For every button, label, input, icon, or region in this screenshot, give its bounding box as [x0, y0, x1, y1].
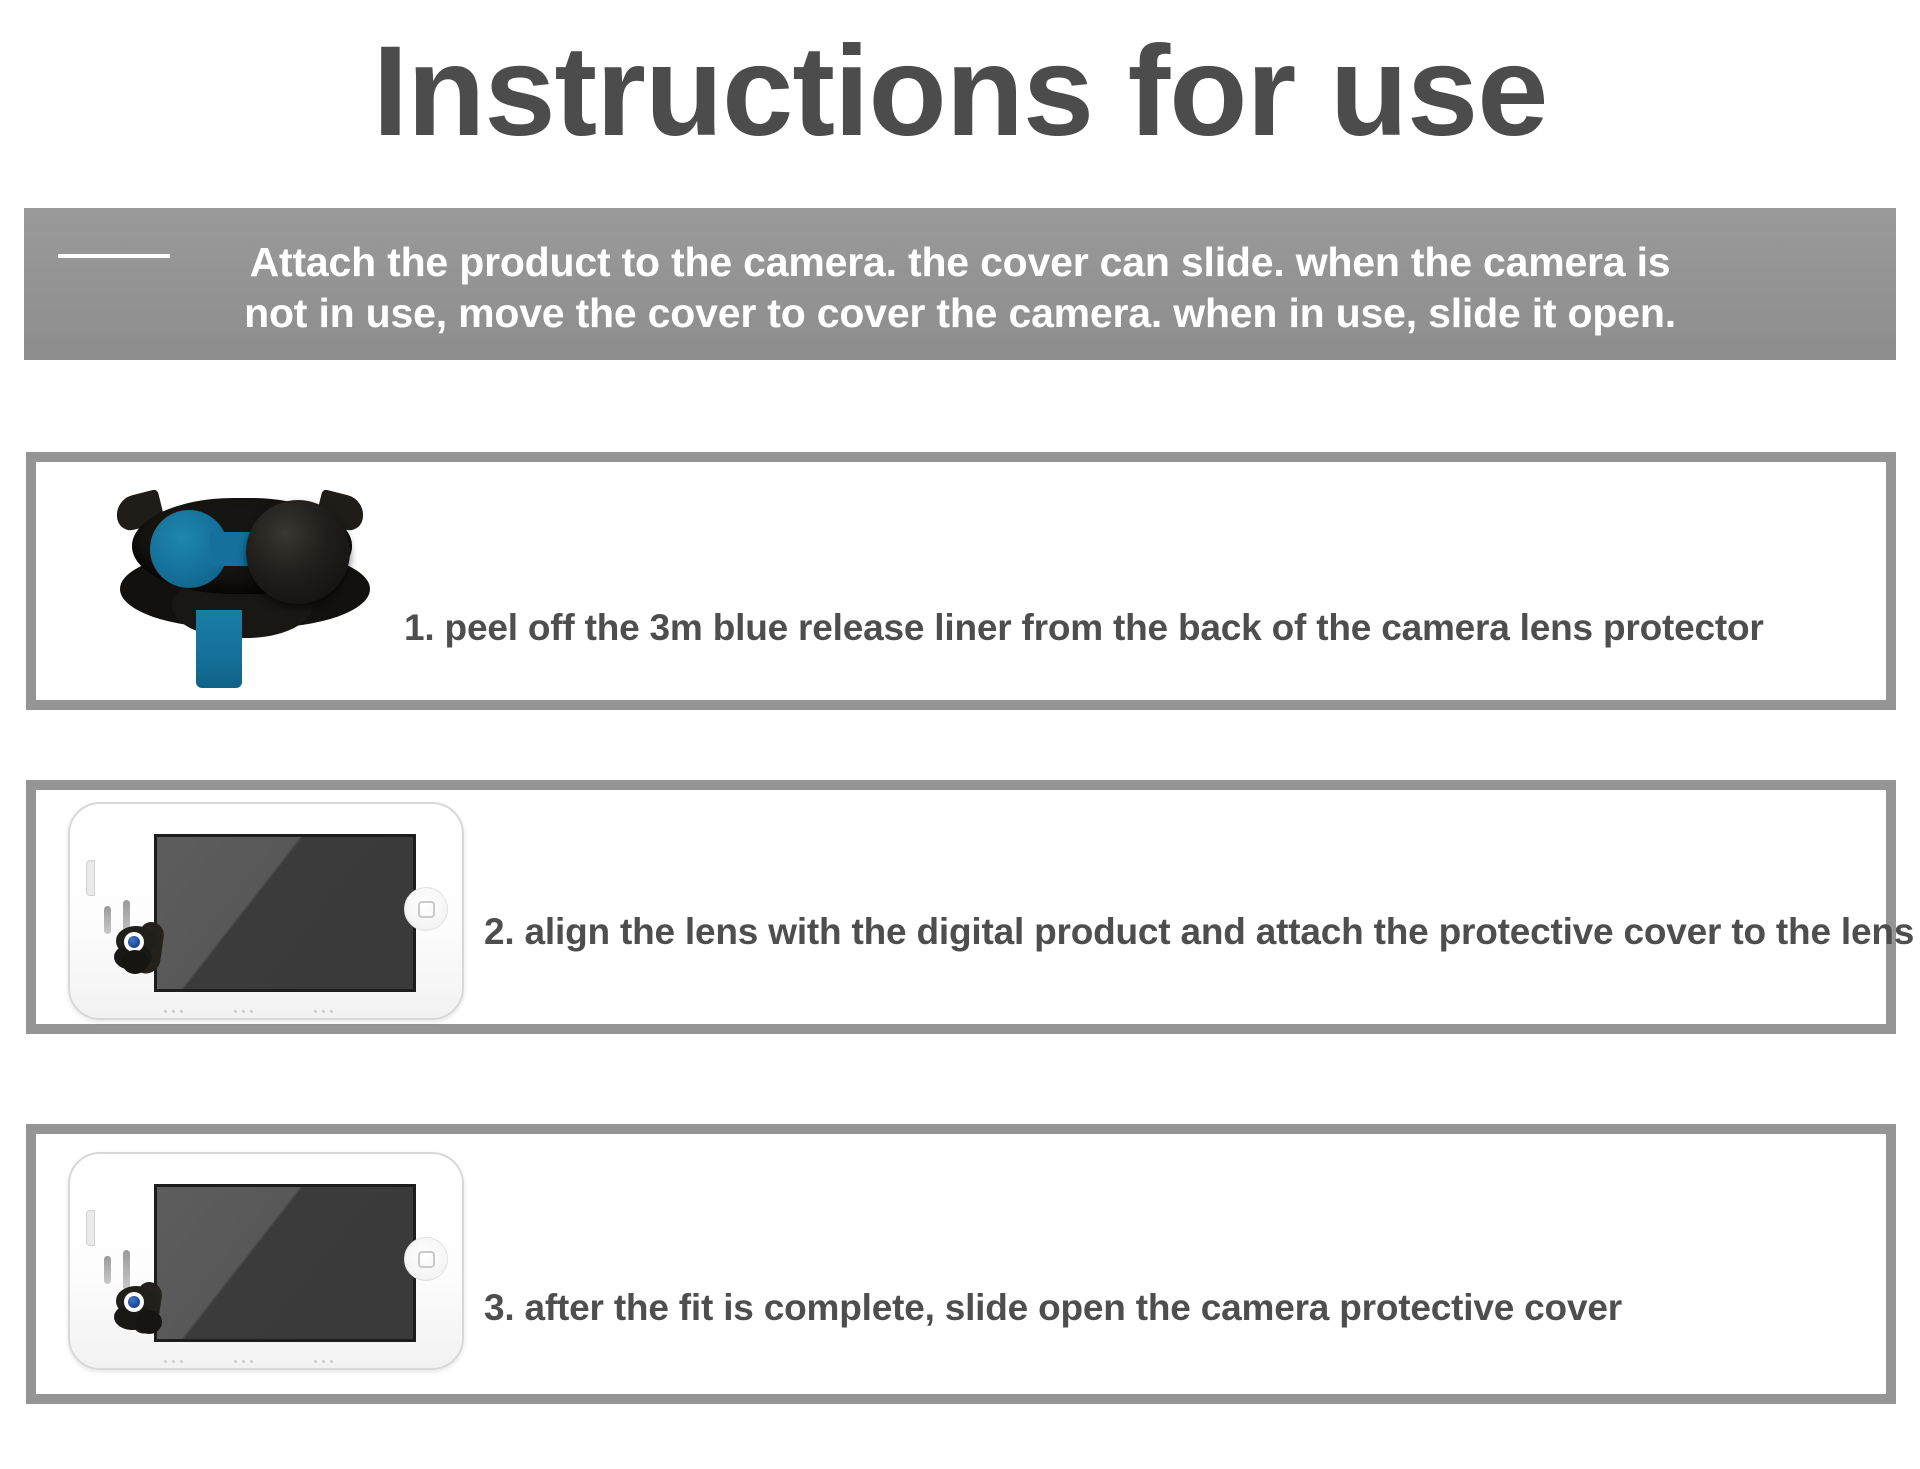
- phone-speaker-slot-1: [104, 906, 111, 934]
- step-box-2: 2. align the lens with the digital produ…: [26, 780, 1896, 1034]
- phone-bottom-dots: [164, 1010, 334, 1014]
- attached-lens-protector: [112, 920, 166, 982]
- sliding-cover-cap: [246, 500, 350, 604]
- phone-screen: [154, 834, 416, 992]
- page-title: Instructions for use: [0, 22, 1920, 162]
- camera-lens-icon: [128, 936, 140, 948]
- step-1-caption: 1. peel off the 3m blue release liner fr…: [404, 606, 1764, 650]
- banner-text: Attach the product to the camera. the co…: [24, 208, 1896, 360]
- intro-banner: Attach the product to the camera. the co…: [24, 208, 1896, 360]
- phone-speaker-slot-1: [104, 1256, 111, 1284]
- phone-illustration-step-2: [68, 802, 464, 1020]
- protector-sliding-cover: [122, 950, 148, 974]
- home-button-square-icon: [418, 1251, 435, 1268]
- step-box-1: 1. peel off the 3m blue release liner fr…: [26, 452, 1896, 710]
- step-3-caption: 3. after the fit is complete, slide open…: [484, 1286, 1622, 1330]
- banner-line-1: Attach the product to the camera. the co…: [250, 237, 1671, 288]
- phone-home-button: [404, 887, 448, 931]
- banner-line-2: not in use, move the cover to cover the …: [244, 288, 1676, 339]
- blue-release-liner-pull-tab: [196, 610, 242, 688]
- lens-protector-product-image: [86, 464, 386, 704]
- camera-lens-icon: [128, 1296, 140, 1308]
- phone-bottom-dots: [164, 1360, 334, 1364]
- protector-sliding-cover: [136, 1310, 162, 1334]
- step-box-3: 3. after the fit is complete, slide open…: [26, 1124, 1896, 1404]
- step-2-caption: 2. align the lens with the digital produ…: [484, 910, 1914, 954]
- attached-lens-protector-open: [112, 1280, 166, 1342]
- phone-screen: [154, 1184, 416, 1342]
- phone-home-button: [404, 1237, 448, 1281]
- phone-side-button: [86, 860, 95, 896]
- phone-side-button: [86, 1210, 95, 1246]
- phone-illustration-step-3: [68, 1152, 464, 1370]
- home-button-square-icon: [418, 901, 435, 918]
